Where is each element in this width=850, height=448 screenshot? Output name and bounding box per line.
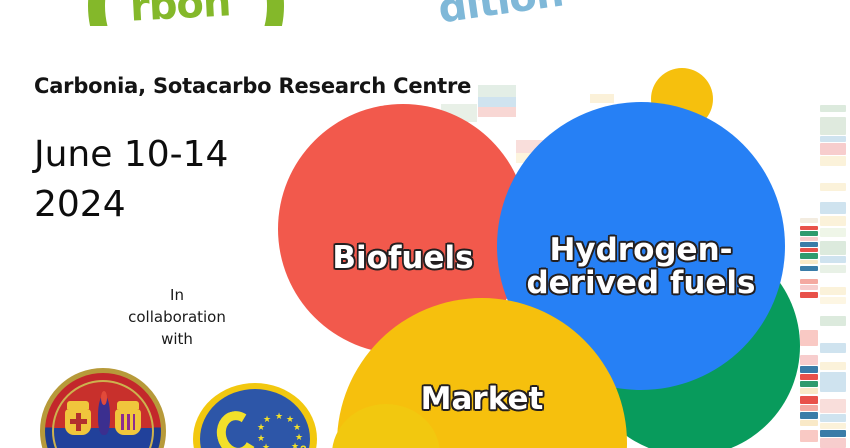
decor-patch	[478, 85, 516, 97]
topic-bubble-market-label: Market	[421, 383, 544, 416]
decor-stripe	[800, 248, 818, 252]
decor-stripe	[800, 388, 818, 394]
eu-stars-icon: ★ ★ ★ ★ ★ ★ ★ ★ ★ ★ ★	[255, 413, 301, 448]
decor-stripe	[820, 297, 846, 304]
university-seal-logo[interactable]	[40, 368, 166, 448]
seal-flame-tip-icon	[101, 391, 107, 405]
decor-stripe	[820, 202, 846, 214]
decor-stripe	[800, 381, 818, 387]
decor-stripe	[800, 330, 818, 346]
carbon-logo: rbon	[88, 0, 298, 26]
decor-stripe	[820, 136, 846, 142]
decor-stripe	[820, 216, 846, 226]
decor-stripe	[820, 362, 846, 370]
event-venue: Carbonia, Sotacarbo Research Centre	[34, 74, 471, 98]
decor-stripe	[800, 253, 818, 259]
decor-stripe	[820, 143, 846, 155]
decor-stripe	[820, 265, 846, 273]
decor-stripe	[800, 396, 818, 404]
decor-stripe	[820, 256, 846, 263]
seal-crown-left-icon	[67, 401, 89, 409]
carbon-logo-label: rbon	[129, 0, 232, 26]
decor-stripe	[820, 117, 846, 135]
topic-bubble-biofuels-label: Biofuels	[332, 242, 473, 275]
seal-cross-horizontal-icon	[70, 419, 87, 424]
decor-stripe	[800, 226, 818, 230]
decor-stripe	[800, 412, 818, 419]
decor-stripe	[800, 237, 818, 241]
decor-stripe	[820, 399, 846, 413]
decor-stripe	[820, 105, 846, 112]
co2-geonet-logo[interactable]: ★ ★ ★ ★ ★ ★ ★ ★ ★ ★ ★ 2 GeoNet	[193, 383, 317, 448]
co2-logo-inner: ★ ★ ★ ★ ★ ★ ★ ★ ★ ★ ★ 2 GeoNet	[200, 389, 310, 448]
decor-stripe	[820, 438, 846, 448]
decor-stripe	[820, 156, 846, 166]
decor-stripe	[800, 420, 818, 426]
decor-stripe	[800, 405, 818, 411]
decor-stripe	[800, 266, 818, 271]
event-poster: rbon dition	[0, 0, 850, 448]
decor-stripe	[800, 218, 818, 223]
decor-stripe	[820, 372, 846, 392]
decor-stripe	[800, 366, 818, 373]
decor-stripe	[800, 292, 818, 298]
decor-stripe	[800, 279, 818, 284]
decor-stripe	[820, 241, 846, 255]
decor-stripe	[800, 285, 818, 290]
decor-stripe	[800, 430, 818, 442]
decor-stripe	[800, 231, 818, 236]
decor-stripe	[800, 374, 818, 380]
decor-stripe	[820, 228, 846, 237]
decor-patch	[478, 107, 516, 117]
decor-stripe	[820, 343, 846, 353]
decor-stripe	[820, 430, 846, 437]
collaboration-note: In collaboration with	[92, 285, 262, 351]
decor-stripe	[800, 242, 818, 247]
decor-patch	[590, 94, 614, 103]
decor-stripe	[820, 423, 846, 429]
seal-right-bars-icon	[121, 414, 135, 430]
decor-stripe	[800, 260, 818, 264]
decor-stripe	[820, 316, 846, 326]
decor-stripe	[800, 355, 818, 365]
co2-subscript-label: 2	[300, 443, 307, 448]
decor-stripe	[820, 287, 846, 295]
seal-crown-right-icon	[117, 401, 139, 409]
topic-bubble-hydrogen-label: Hydrogen- derived fuels	[526, 234, 755, 300]
decor-stripe	[820, 414, 846, 422]
decor-stripe	[820, 183, 846, 191]
event-date: June 10-14 2024	[34, 130, 228, 229]
edition-label: dition	[435, 0, 565, 32]
decor-patch	[478, 97, 516, 107]
